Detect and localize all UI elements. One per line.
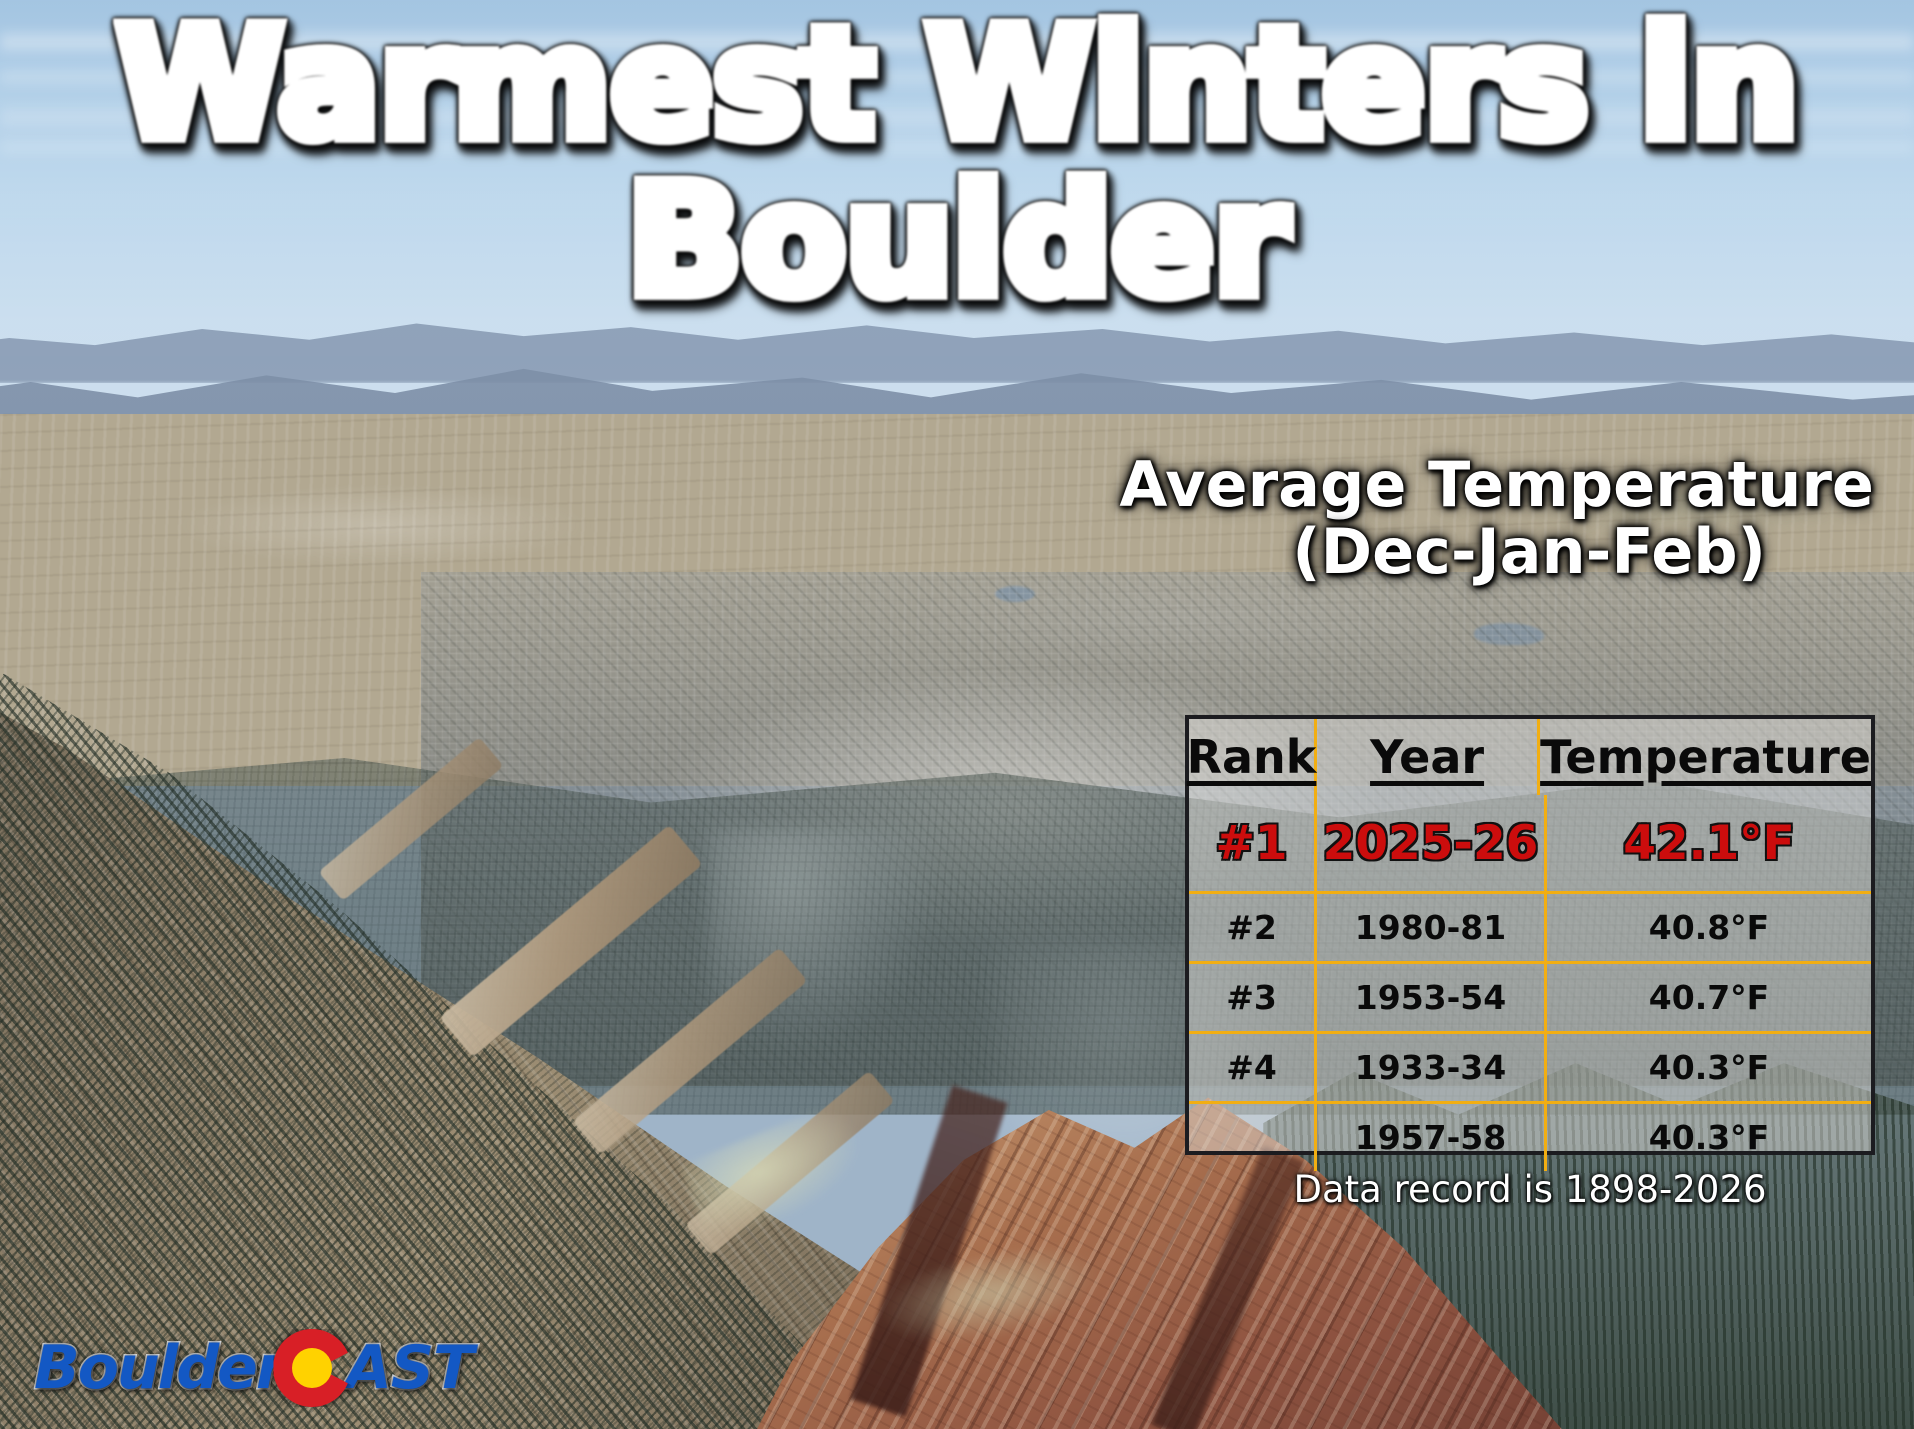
- table-row: #2 1980-81 40.8°F: [1189, 894, 1871, 964]
- cell-temperature: 40.7°F: [1547, 964, 1871, 1031]
- table-header-row: Rank Year Temperature: [1189, 719, 1871, 795]
- infographic-canvas: Warmest Winters in Boulder Average Tempe…: [0, 0, 1914, 1429]
- column-header-rank: Rank: [1189, 719, 1317, 795]
- warmest-winters-table: Rank Year Temperature #1 2025-26 42.1°F …: [1185, 715, 1875, 1155]
- cell-rank: #4: [1189, 1034, 1317, 1101]
- table-row: #1 2025-26 42.1°F: [1189, 795, 1871, 894]
- title-line-1: Warmest Winters in: [116, 6, 1798, 163]
- logo-word-ast: AST: [345, 1338, 473, 1398]
- page-title: Warmest Winters in Boulder: [0, 6, 1914, 319]
- cell-year: 1957-58: [1317, 1104, 1547, 1171]
- cell-rank: [1189, 1104, 1317, 1171]
- cell-temperature: 42.1°F: [1547, 795, 1871, 891]
- data-record-note: Data record is 1898-2026: [1185, 1168, 1875, 1211]
- cell-temperature: 40.8°F: [1547, 894, 1871, 961]
- cell-rank: #3: [1189, 964, 1317, 1031]
- cell-year: 2025-26: [1317, 795, 1547, 891]
- cell-year: 1933-34: [1317, 1034, 1547, 1101]
- table-row: #4 1933-34 40.3°F: [1189, 1034, 1871, 1104]
- chart-subtitle: Average Temperature (Dec-Jan-Feb): [874, 452, 1874, 586]
- subtitle-line-2: (Dec-Jan-Feb): [874, 519, 1874, 586]
- subtitle-line-1: Average Temperature: [874, 452, 1874, 519]
- column-header-year: Year: [1317, 719, 1540, 795]
- cell-temperature: 40.3°F: [1547, 1104, 1871, 1171]
- table-row: 1957-58 40.3°F: [1189, 1104, 1871, 1171]
- table-row: #3 1953-54 40.7°F: [1189, 964, 1871, 1034]
- cell-year: 1980-81: [1317, 894, 1547, 961]
- logo-word-boulder: Boulder: [34, 1338, 283, 1398]
- bouldercast-logo[interactable]: Boulder AST: [34, 1329, 473, 1407]
- colorado-c-icon: [273, 1329, 351, 1407]
- column-header-temperature: Temperature: [1540, 719, 1871, 795]
- title-line-2: Boulder: [627, 163, 1287, 320]
- cell-temperature: 40.3°F: [1547, 1034, 1871, 1101]
- cell-rank: #1: [1189, 795, 1317, 891]
- cell-rank: #2: [1189, 894, 1317, 961]
- cell-year: 1953-54: [1317, 964, 1547, 1031]
